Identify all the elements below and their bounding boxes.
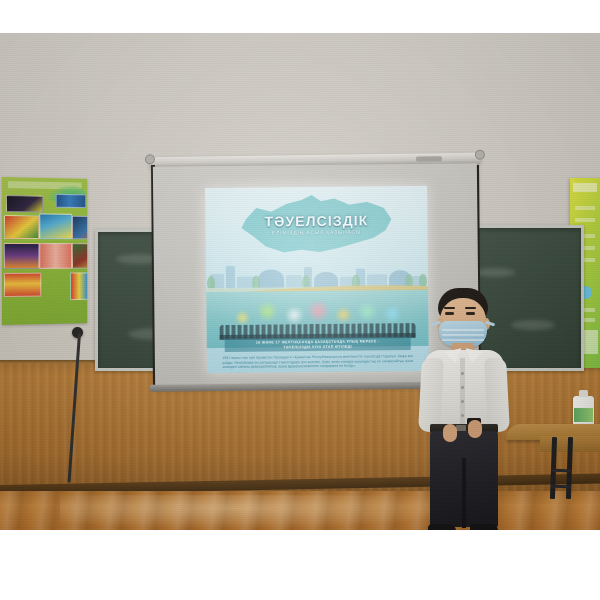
firework [334, 306, 352, 324]
eyebrow-right [465, 307, 476, 309]
desk-leg-brace [551, 469, 571, 473]
shoe-left [428, 524, 456, 530]
artwork-tile [72, 216, 87, 240]
sleeve-right [484, 357, 510, 432]
artwork-tile [4, 273, 41, 297]
slide-banner-line-2: ТӘУЕЛСІЗДІК КҮНІ АТАП ӨТІЛЕДІ [224, 344, 411, 350]
slide-title: ТӘУЕЛСІЗДІК [205, 212, 427, 230]
artwork-tile [4, 215, 39, 239]
poster-text-bar [575, 218, 595, 222]
artwork-tile [39, 213, 72, 239]
eye-left [445, 312, 454, 315]
artwork-tile [39, 243, 72, 269]
artwork-tile [72, 243, 87, 268]
projected-slide: ТӘУЕЛСІЗДІК ЕЛІМІЗДІҢ АСЫЛ ҚАЗЫНАСЫ [205, 186, 429, 373]
screen-mount-right [475, 150, 485, 160]
shirt-button [461, 414, 464, 417]
slide-banner: 16 ЖӘНЕ 17 ЖЕЛТОҚСАНДА ҚАЗАҚСТАНДА ҰЛЫҚ … [224, 337, 411, 352]
screen-mount-left [145, 154, 155, 164]
firework [306, 299, 330, 323]
firework [284, 305, 304, 325]
shirt-button [461, 386, 464, 389]
poster-heading-bar [573, 183, 597, 192]
artwork-tile [70, 272, 87, 300]
screen-case-badge [416, 156, 442, 161]
shirt-button [461, 400, 464, 403]
desk-leg-brace [551, 485, 571, 489]
firework [256, 300, 278, 322]
hand-left [443, 424, 457, 442]
shirt-button [461, 372, 464, 375]
classroom-photo: ТӘУЕЛСІЗДІК ЕЛІМІЗДІҢ АСЫЛ ҚАЗЫНАСЫ [0, 33, 600, 530]
children-artwork-poster [2, 177, 87, 325]
artwork-tile [56, 194, 86, 208]
student-presenter [412, 288, 516, 530]
shoe-right [470, 524, 498, 530]
hand-right [468, 420, 482, 438]
trouser-leg-split [462, 458, 466, 528]
firework [234, 310, 250, 326]
bottle-label [574, 408, 593, 422]
bottle-cap [579, 390, 588, 397]
artwork-tile [6, 195, 43, 212]
firework [382, 304, 402, 324]
eye-right [466, 312, 475, 315]
photo-frame: ТӘУЕЛСІЗДІК ЕЛІМІЗДІҢ АСЫЛ ҚАЗЫНАСЫ [0, 0, 600, 600]
firework [356, 300, 378, 322]
slide-body-text: 1991 жылы осы күні Қазақстан Президенті … [222, 354, 413, 370]
eyebrow-left [444, 307, 455, 309]
artwork-tile [4, 243, 39, 269]
poster-text-bar [575, 206, 595, 210]
sleeve-left [418, 357, 444, 432]
